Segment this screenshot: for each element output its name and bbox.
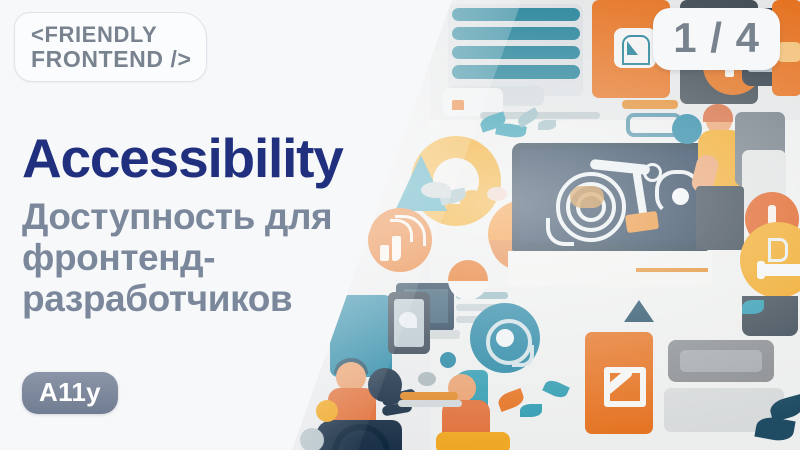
leaf [520, 404, 542, 417]
pencil [622, 100, 678, 109]
brand-logo-line1: <FRIENDLY [31, 22, 192, 47]
page-subtitle: Доступность для фронтенд-разработчиков [22, 196, 352, 319]
small-dot [487, 187, 507, 201]
screen-dot [672, 188, 689, 205]
brand-logo-badge: <FRIENDLY FRONTEND /> [14, 12, 207, 82]
a11y-badge: A11y [22, 372, 118, 414]
brand-logo-line2: FRONTEND /> [31, 47, 192, 72]
person-legs [696, 186, 744, 250]
text-panel: <FRIENDLY FRONTEND /> Accessibility Дост… [0, 0, 452, 450]
monitor-base-line [636, 268, 708, 272]
page-counter-badge: 1 / 4 [653, 8, 780, 70]
page-title: Accessibility [22, 129, 343, 187]
leaf [742, 300, 764, 314]
screen-amber-arc [570, 186, 604, 208]
amber-bar [760, 264, 800, 276]
leaf [538, 120, 556, 130]
window-icon-fill [627, 41, 638, 55]
grey-device-screen [680, 350, 762, 372]
cursor-triangle [624, 300, 654, 322]
amber-glyph [768, 238, 788, 262]
amber-bar-end [757, 261, 765, 279]
slide-canvas: <FRIENDLY FRONTEND /> Accessibility Дост… [0, 0, 800, 450]
